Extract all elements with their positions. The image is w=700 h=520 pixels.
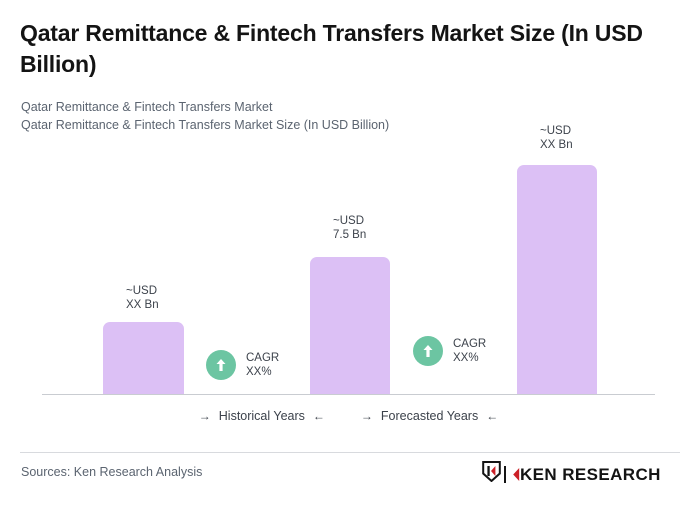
arrow-right-icon: → (361, 410, 373, 422)
bar-value-label-historical: ~USD XX Bn (126, 284, 159, 312)
sources-text: Sources: Ken Research Analysis (21, 465, 202, 479)
legend-label-forecasted: Forecasted Years (381, 409, 478, 423)
arrow-up-icon (413, 336, 443, 366)
plot-area: ~USD XX Bn ~USD 7.5 Bn ~USD XX Bn CAGR X… (0, 0, 700, 400)
footer-divider (20, 452, 680, 453)
bar-value-label-unit: ~USD (540, 124, 573, 138)
arrow-left-icon: ← (313, 410, 325, 422)
cagr-value: XX% (453, 351, 486, 365)
bar-value-label-forecast: ~USD XX Bn (540, 124, 573, 152)
bar-value-label-amount: XX Bn (126, 298, 159, 312)
brand-wordmark: KEN RESEARCH (510, 466, 661, 483)
bar-current[interactable] (310, 257, 390, 394)
legend-label-historical: Historical Years (219, 409, 305, 423)
brand-logo: KEN RESEARCH (482, 463, 661, 485)
chart-card: Qatar Remittance & Fintech Transfers Mar… (0, 0, 700, 520)
cagr-badge-forecast: CAGR XX% (413, 336, 486, 366)
bar-value-label-unit: ~USD (333, 214, 366, 228)
brand-wordmark-text: KEN RESEARCH (520, 466, 661, 483)
cagr-badge-historical: CAGR XX% (206, 350, 279, 380)
ken-research-shield-icon (482, 461, 501, 487)
bar-value-label-amount: XX Bn (540, 138, 573, 152)
axis-baseline (42, 394, 655, 395)
cagr-value: XX% (246, 365, 279, 379)
cagr-label: CAGR (246, 351, 279, 365)
bar-value-label-amount: 7.5 Bn (333, 228, 366, 242)
brand-divider (504, 466, 506, 483)
bar-forecast[interactable] (517, 165, 597, 394)
bar-historical[interactable] (103, 322, 184, 394)
bar-value-label-unit: ~USD (126, 284, 159, 298)
cagr-label-group: CAGR XX% (453, 337, 486, 365)
period-legend: → Historical Years ← → Forecasted Years … (42, 409, 655, 423)
bar-value-label-current: ~USD 7.5 Bn (333, 214, 366, 242)
cagr-label: CAGR (453, 337, 486, 351)
legend-item-forecasted-years: → Forecasted Years ← (361, 409, 498, 423)
legend-item-historical-years: → Historical Years ← (199, 409, 325, 423)
cagr-label-group: CAGR XX% (246, 351, 279, 379)
arrow-left-icon: ← (486, 410, 498, 422)
arrow-right-icon: → (199, 410, 211, 422)
arrow-up-icon (206, 350, 236, 380)
